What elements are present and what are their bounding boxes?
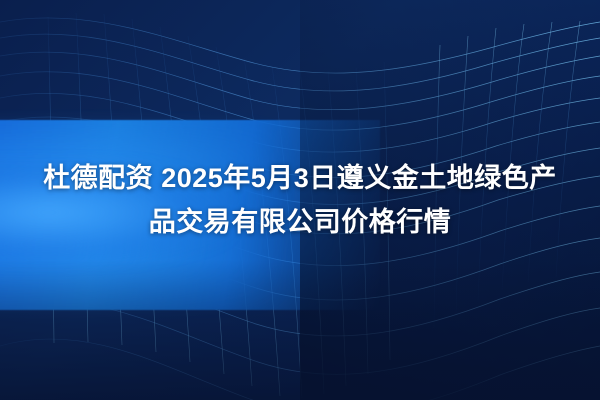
banner-image: 杜德配资 2025年5月3日遵义金土地绿色产品交易有限公司价格行情	[0, 0, 600, 400]
title-container: 杜德配资 2025年5月3日遵义金土地绿色产品交易有限公司价格行情	[0, 0, 600, 400]
page-title: 杜德配资 2025年5月3日遵义金土地绿色产品交易有限公司价格行情	[20, 156, 580, 244]
